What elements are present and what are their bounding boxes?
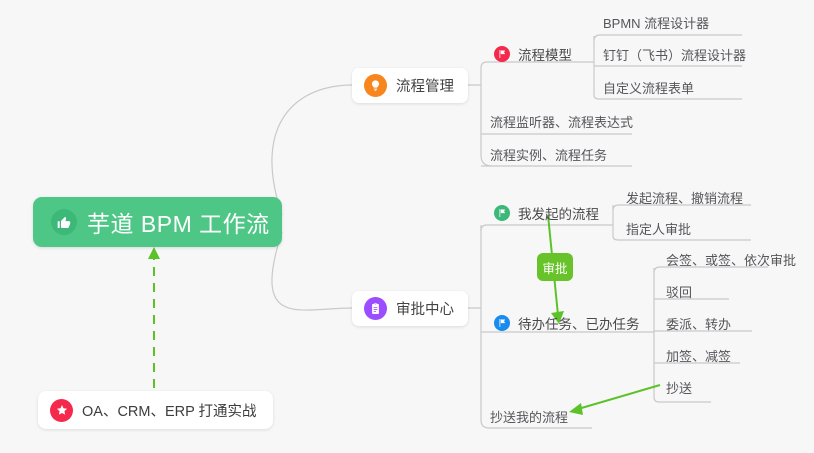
leaf-bpmn-designer[interactable]: BPMN 流程设计器 [603,13,709,32]
leaf-process-instance-task[interactable]: 流程实例、流程任务 [490,145,607,164]
leaf-process-listener-expression[interactable]: 流程监听器、流程表达式 [490,112,633,131]
arrowhead-cc-to-cc-my-process [569,403,583,415]
wire-ac-spine-cap-top [481,225,596,231]
flag-icon [494,315,510,331]
branch-label-process-management: 流程管理 [396,75,454,96]
topic-label-todo-done-tasks: 待办任务、已办任务 [518,313,640,333]
root-label: 芋道 BPM 工作流 [87,205,270,239]
annotation-tag-label: 审批 [542,258,567,277]
thumbs-up-icon [51,209,77,235]
leaf-reject[interactable]: 驳回 [666,282,692,301]
leaf-countersign-orsign-sequential[interactable]: 会签、或签、依次审批 [666,250,796,269]
flag-icon [494,205,510,221]
annotation-tag-approval: 审批 [537,253,573,281]
flag-icon [494,46,510,62]
branch-label-approval-center: 审批中心 [396,298,454,319]
root-node[interactable]: 芋道 BPM 工作流 [33,197,282,247]
leaf-start-cancel-process[interactable]: 发起流程、撤销流程 [626,188,743,207]
wire-todo-cap-bottom [654,397,711,402]
leaf-cc[interactable]: 抄送 [666,378,692,397]
topic-label-process-model: 流程模型 [518,44,572,64]
leaf-custom-process-form[interactable]: 自定义流程表单 [603,78,694,97]
arrow-cc-to-cc-my-process [578,385,660,409]
star-icon [50,399,73,422]
wire-root-to-approval-center [272,232,352,310]
wire-root-to-process-management [272,85,352,215]
topic-node-my-initiated[interactable]: 我发起的流程 [494,203,599,223]
branch-node-process-management[interactable]: 流程管理 [352,68,468,103]
topic-node-process-model[interactable]: 流程模型 [494,44,572,64]
topic-node-todo-done-tasks[interactable]: 待办任务、已办任务 [494,313,640,333]
lightbulb-icon [364,74,387,97]
clipboard-icon [364,297,387,320]
wire-model-cap-top [594,35,742,41]
leaf-add-remove-signer[interactable]: 加签、减签 [666,346,731,365]
leaf-designated-approver[interactable]: 指定人审批 [626,219,691,238]
leaf-delegate-transfer[interactable]: 委派、转办 [666,314,731,333]
branch-node-approval-center[interactable]: 审批中心 [352,291,468,326]
mindmap-canvas: 芋道 BPM 工作流 OA、CRM、ERP 打通实战 流程管理 流程模型 BPM… [0,0,814,453]
leaf-cc-my-process[interactable]: 抄送我的流程 [490,407,568,426]
callout-node-integration[interactable]: OA、CRM、ERP 打通实战 [38,391,273,429]
callout-label: OA、CRM、ERP 打通实战 [82,400,257,421]
leaf-dingtalk-feishu-designer[interactable]: 钉钉（飞书）流程设计器 [603,45,746,64]
topic-label-my-initiated: 我发起的流程 [518,203,599,223]
arrowhead-callout-to-root [148,247,160,259]
